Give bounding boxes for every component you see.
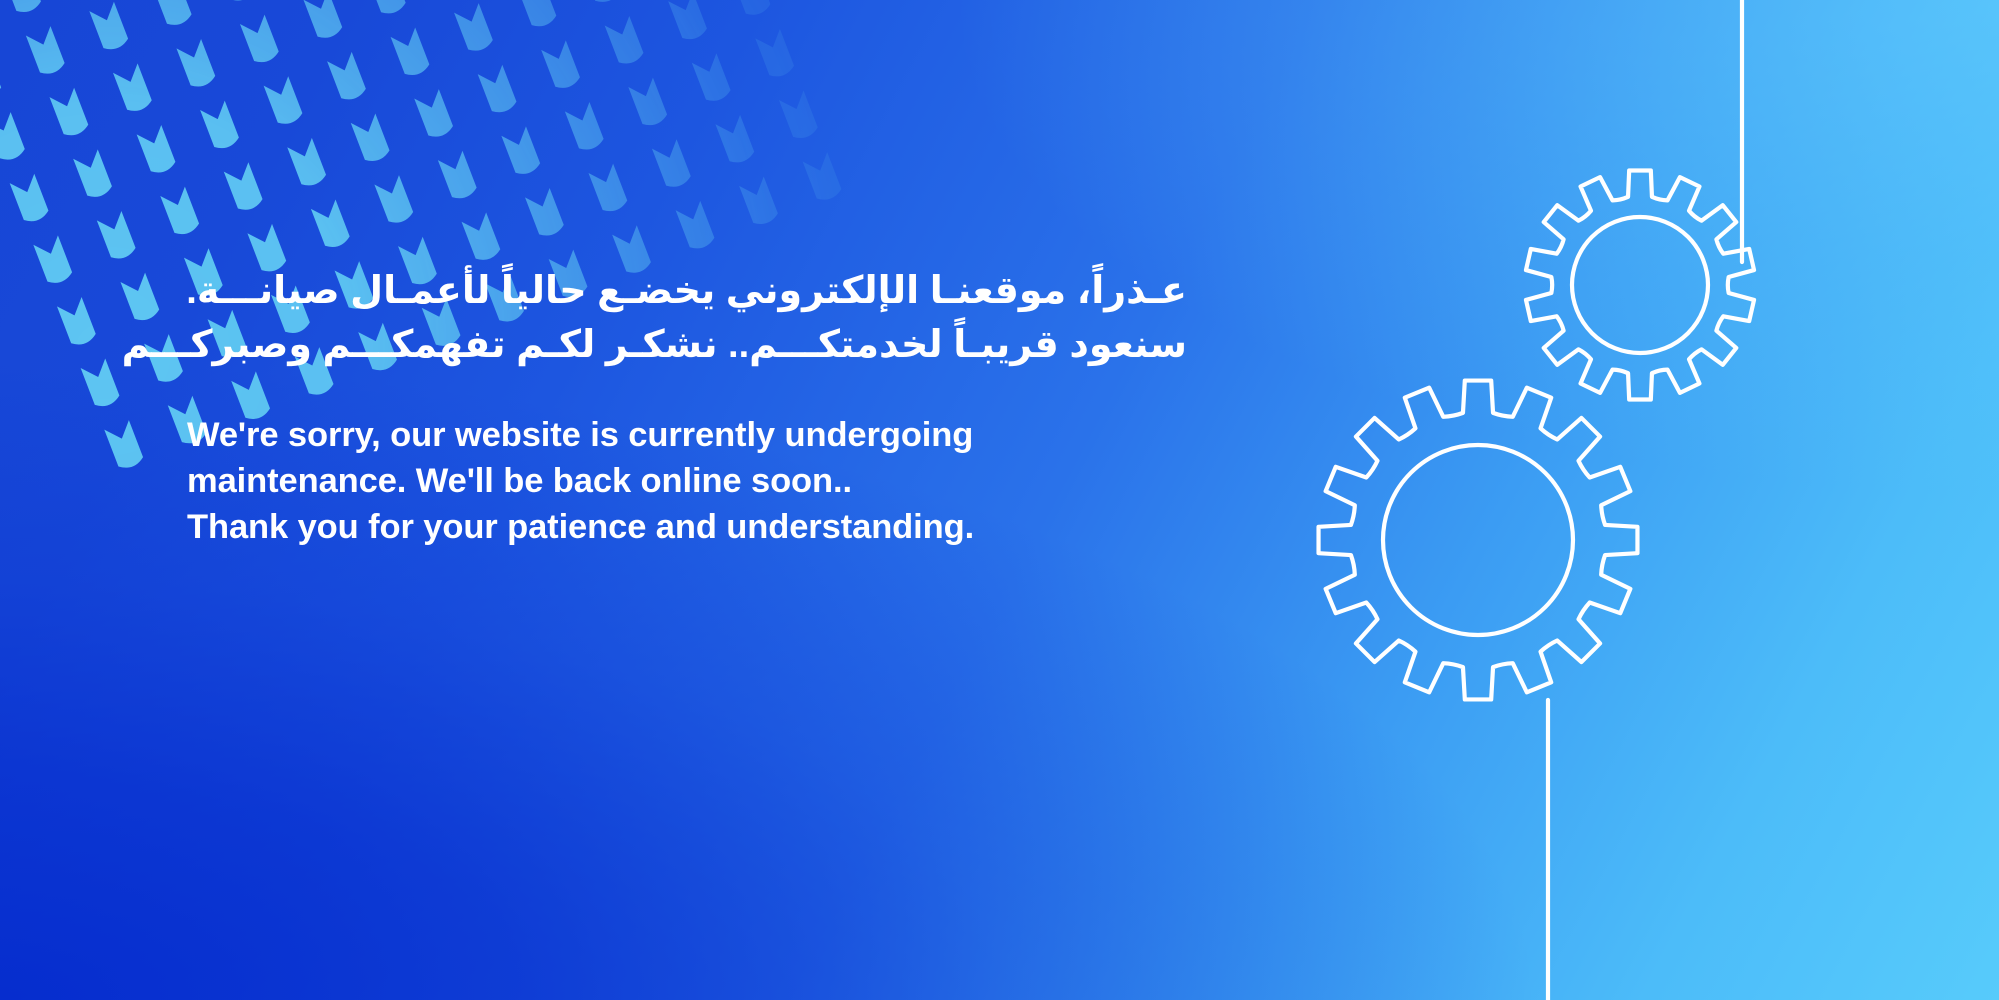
english-line-2: maintenance. We'll be back online soon.. [187, 459, 1187, 505]
message-block: عـذراً، موقعنـا الإلكتروني يخضـع حالياً … [187, 265, 1187, 551]
english-line-1: We're sorry, our website is currently un… [187, 413, 1187, 459]
arabic-line-1: عـذراً، موقعنـا الإلكتروني يخضـع حالياً … [187, 265, 1187, 319]
large-gear-outline [1319, 381, 1638, 700]
small-gear-hub [1572, 217, 1708, 353]
english-line-3: Thank you for your patience and understa… [187, 505, 1187, 551]
maintenance-page: عـذراً، موقعنـا الإلكتروني يخضـع حالياً … [0, 0, 1999, 1000]
arabic-line-2: سنعود قريبـاً لخدمتكـــم.. نشكـر لكـم تف… [187, 319, 1187, 373]
large-gear-hub [1383, 445, 1573, 635]
english-message: We're sorry, our website is currently un… [187, 413, 1187, 551]
arabic-message: عـذراً، موقعنـا الإلكتروني يخضـع حالياً … [187, 265, 1187, 373]
small-gear-outline [1526, 171, 1754, 400]
